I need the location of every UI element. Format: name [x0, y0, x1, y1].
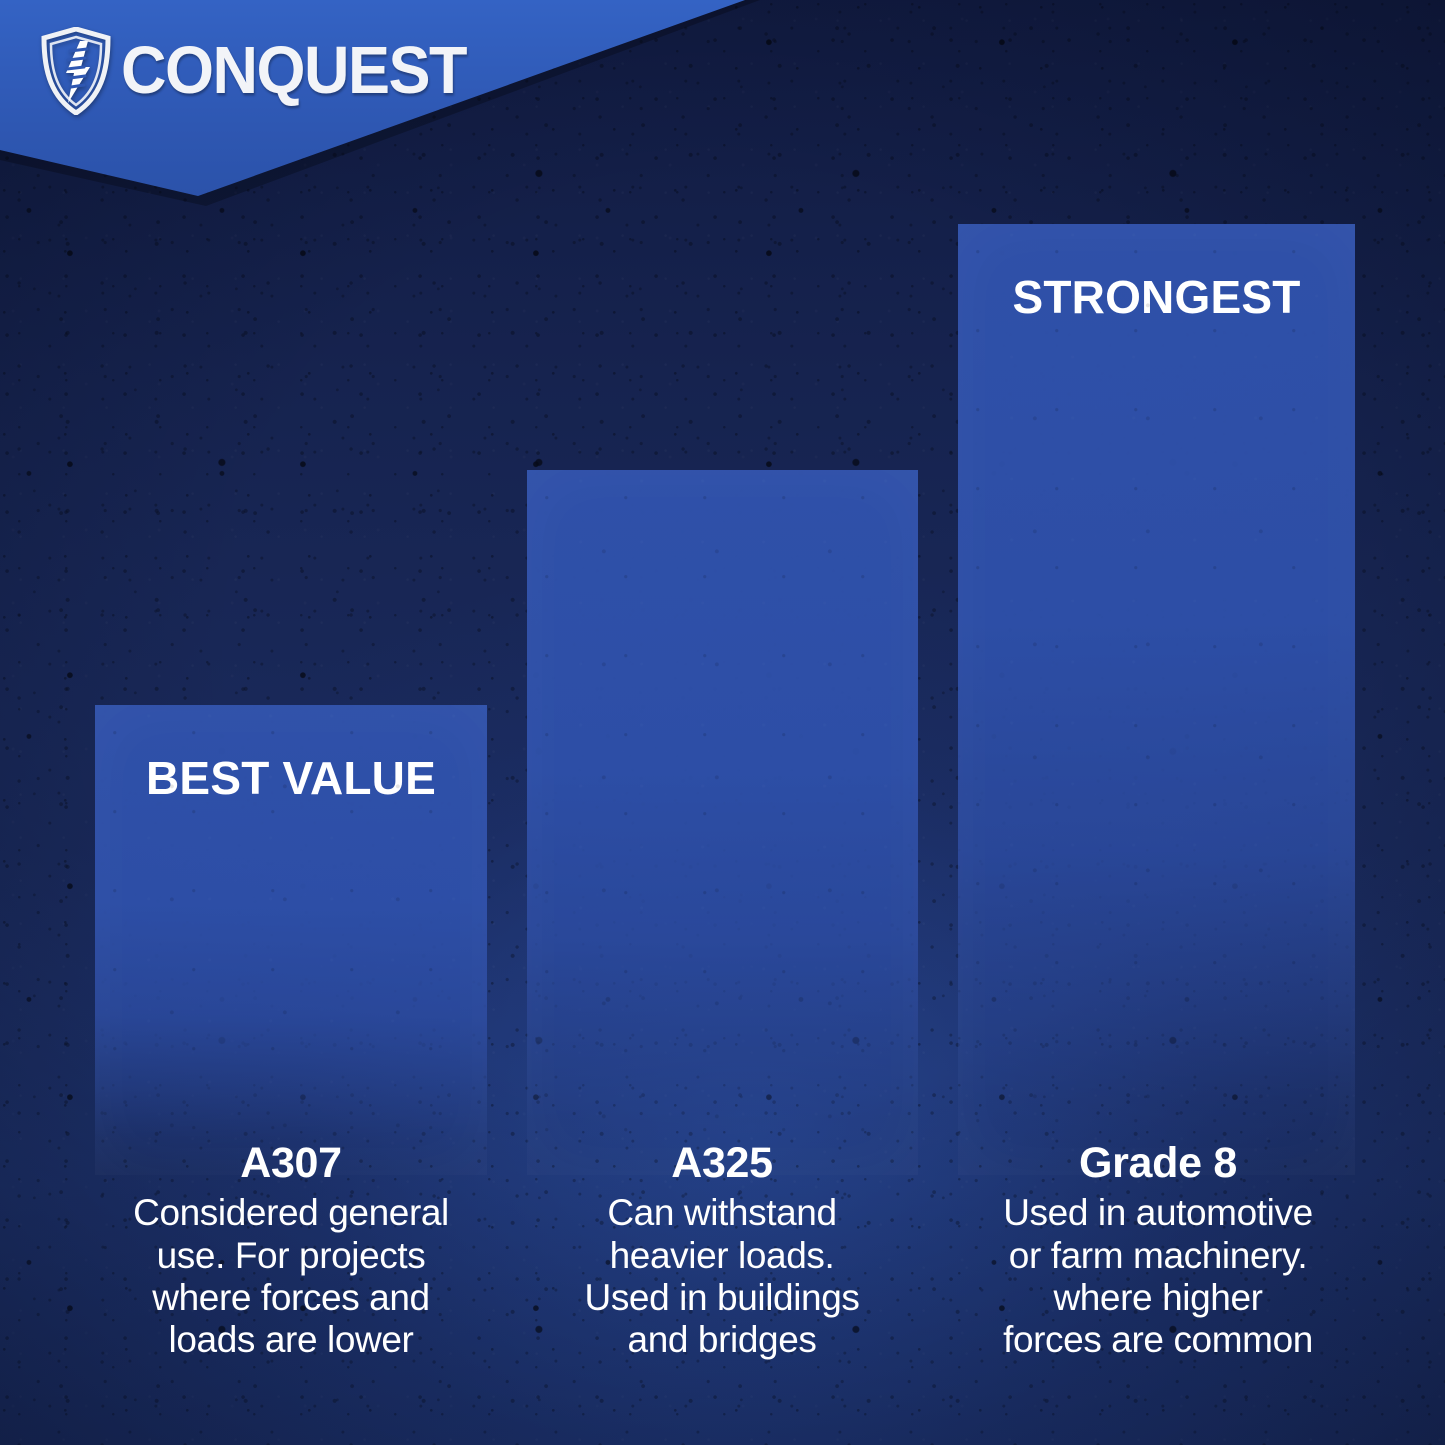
caption-a307: A307 Considered general use. For project…	[88, 1140, 494, 1361]
caption-line: forces are common	[952, 1319, 1364, 1361]
caption-desc-a307: Considered general use. For projects whe…	[88, 1192, 494, 1361]
caption-desc-a325: Can withstand heavier loads. Used in bui…	[522, 1192, 922, 1361]
caption-line: Considered general	[88, 1192, 494, 1234]
brand-name: CONQUEST	[121, 38, 466, 105]
caption-line: where higher	[952, 1277, 1364, 1319]
bar-a307: BEST VALUE	[95, 705, 487, 1175]
caption-title-grade-8: Grade 8	[952, 1140, 1364, 1186]
caption-line: Used in automotive	[952, 1192, 1364, 1234]
caption-line: use. For projects	[88, 1235, 494, 1277]
bar-label-best-value: BEST VALUE	[95, 751, 487, 805]
caption-line: loads are lower	[88, 1319, 494, 1361]
bar-grade-8: STRONGEST	[958, 224, 1355, 1175]
caption-line: Can withstand	[522, 1192, 922, 1234]
caption-desc-grade-8: Used in automotive or farm machinery. wh…	[952, 1192, 1364, 1361]
caption-line: heavier loads.	[522, 1235, 922, 1277]
infographic-canvas: CONQUEST BEST VALUE STRONGEST A307 Consi…	[0, 0, 1445, 1445]
brand-logo: CONQUEST	[40, 27, 466, 115]
bar-a325	[527, 470, 918, 1175]
caption-title-a325: A325	[522, 1140, 922, 1186]
caption-line: and bridges	[522, 1319, 922, 1361]
caption-title-a307: A307	[88, 1140, 494, 1186]
caption-line: where forces and	[88, 1277, 494, 1319]
bar-chart: BEST VALUE STRONGEST A307 Considered gen…	[0, 0, 1445, 1445]
caption-line: or farm machinery.	[952, 1235, 1364, 1277]
caption-grade-8: Grade 8 Used in automotive or farm machi…	[952, 1140, 1364, 1361]
caption-line: Used in buildings	[522, 1277, 922, 1319]
shield-bolt-icon	[40, 27, 112, 115]
bar-label-strongest: STRONGEST	[958, 270, 1355, 324]
caption-a325: A325 Can withstand heavier loads. Used i…	[522, 1140, 922, 1361]
